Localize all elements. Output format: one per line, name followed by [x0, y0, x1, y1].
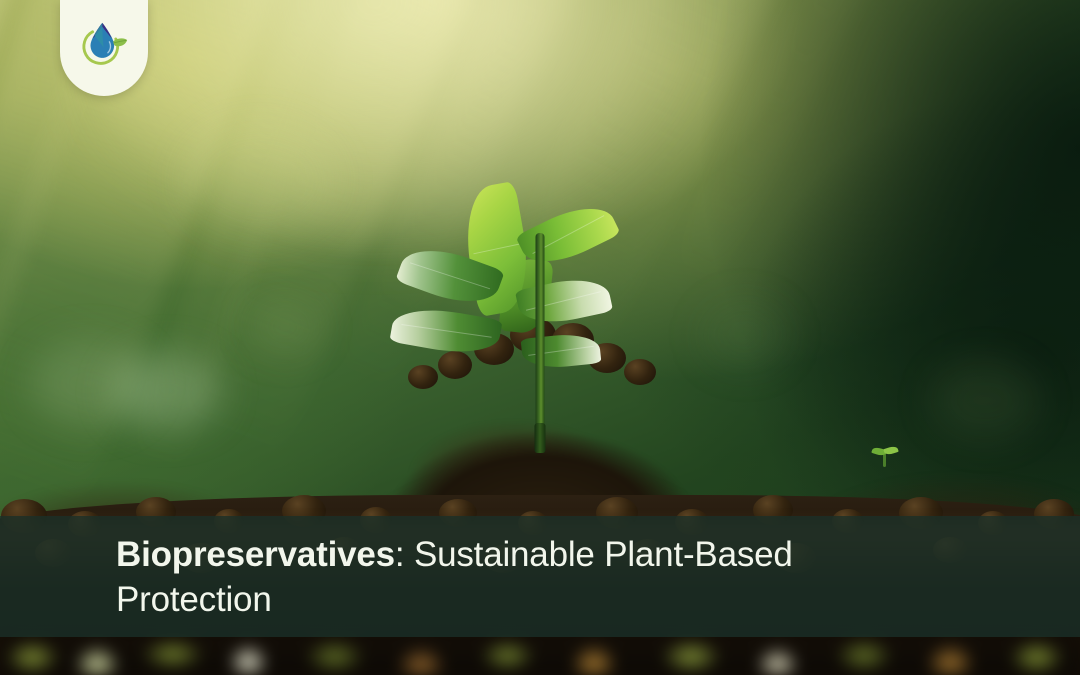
bokeh-blob [700, 300, 790, 370]
seedling-plant [390, 189, 690, 439]
water-droplet-leaf-icon [77, 17, 131, 71]
plant-leaf-upper-right [515, 194, 621, 276]
page-title-emphasis: Biopreservatives [116, 535, 395, 574]
plant-leaf-lower-right [521, 331, 602, 371]
page-title-separator: : [395, 535, 405, 574]
hero-banner: Biopreservatives: Sustainable Plant-Base… [0, 0, 1080, 675]
bokeh-blob [180, 120, 340, 240]
plant-stem [536, 233, 545, 439]
bokeh-blob [250, 300, 320, 354]
plant-stem-base [535, 423, 546, 453]
title-overlay-bar: Biopreservatives: Sustainable Plant-Base… [0, 516, 1080, 637]
page-title: Biopreservatives: Sustainable Plant-Base… [116, 532, 956, 622]
logo-badge[interactable] [60, 0, 148, 96]
small-sprout [872, 441, 898, 467]
